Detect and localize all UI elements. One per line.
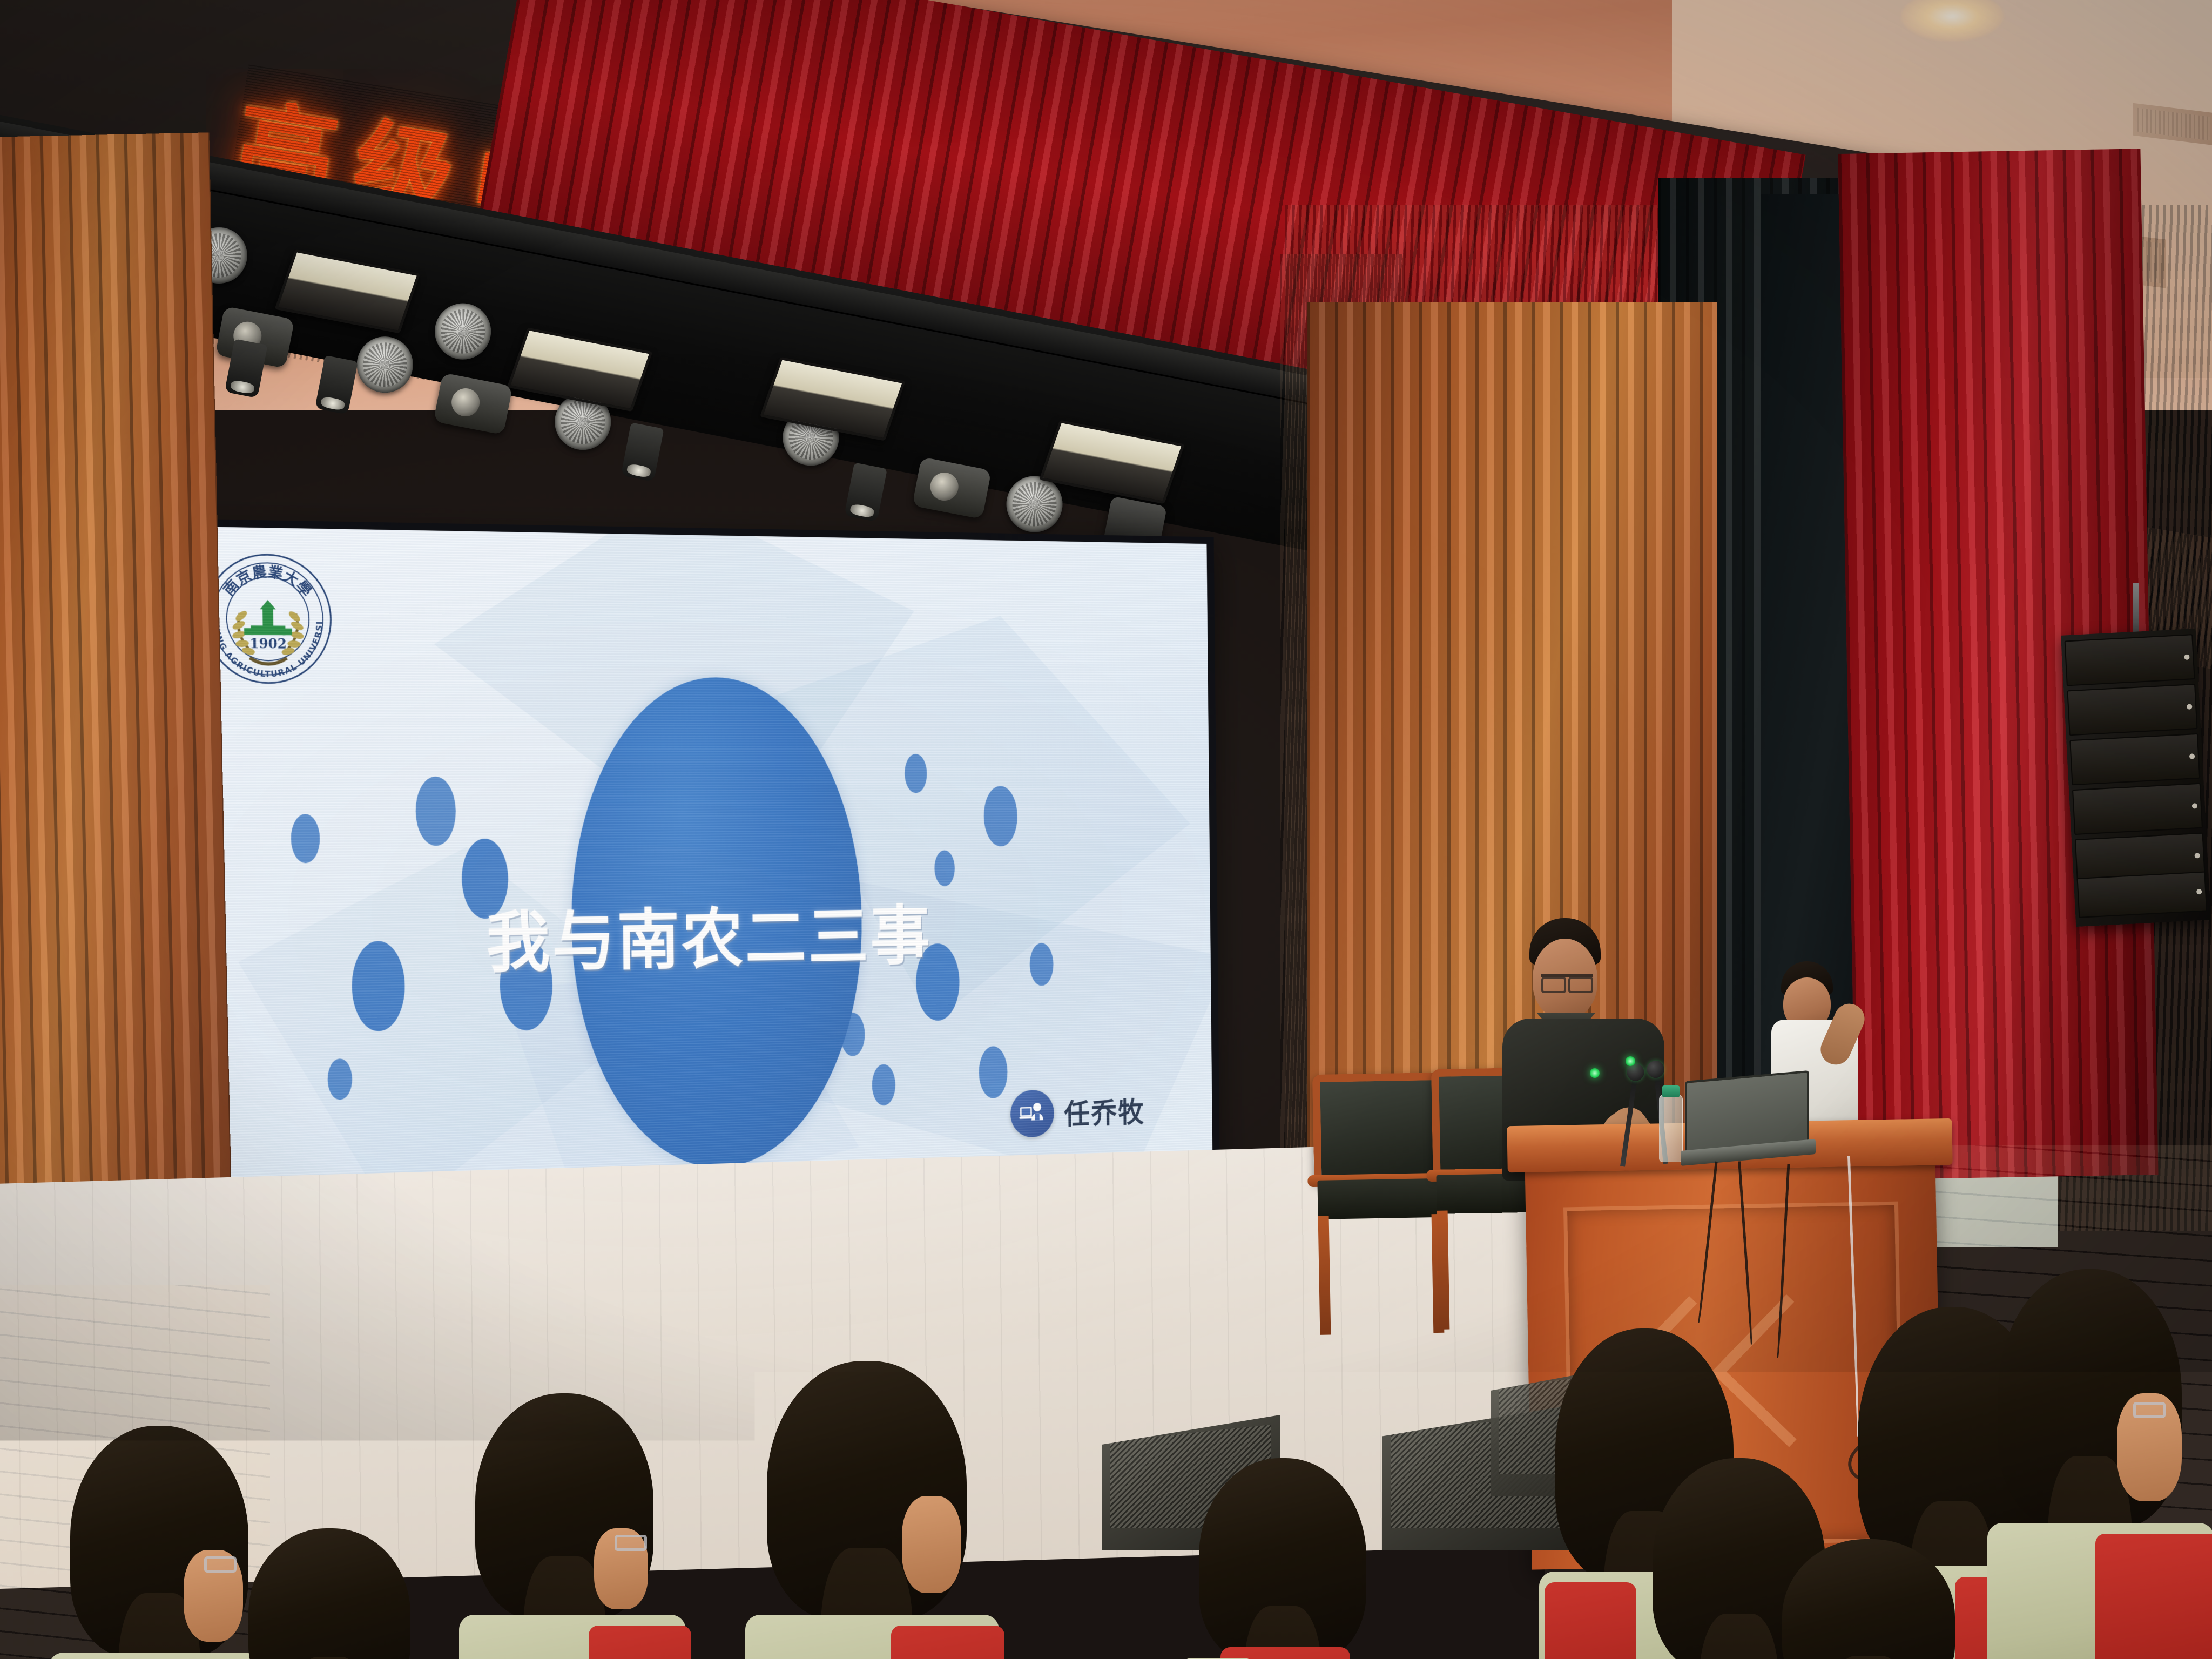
fresnel-light-icon (760, 357, 906, 441)
student-uniform (49, 1653, 281, 1659)
student-glasses-icon (615, 1535, 647, 1551)
chair-leg (1318, 1216, 1331, 1335)
fresnel-light-icon (507, 327, 653, 412)
stage-spotlight-icon (621, 422, 664, 482)
slide-dot (983, 786, 1017, 846)
water-bottle (1659, 1094, 1683, 1162)
student-neck (902, 1496, 961, 1593)
student-glasses-icon (2133, 1402, 2166, 1418)
fresnel-light-icon (1039, 420, 1185, 504)
slide-dot (415, 777, 456, 846)
chair-back (1312, 1073, 1444, 1183)
presenter-glasses-icon (1541, 974, 1593, 985)
slide-dot (934, 850, 955, 886)
speaker-module (2067, 684, 2197, 736)
chair-leg (1437, 1211, 1450, 1330)
orange-curtain-fabric-left (0, 132, 233, 1298)
speaker-module (2069, 733, 2200, 785)
auditorium-photo: 高级中学和南京农业大学共建活动 (0, 0, 2212, 1659)
student-uniform-red-panel (1220, 1647, 1350, 1659)
student-uniform-red-panel (891, 1626, 1004, 1659)
student-uniform-red-panel (2095, 1534, 2212, 1659)
speaker-module (2072, 783, 2203, 835)
speaker-module (2065, 634, 2195, 686)
fresnel-light-icon (274, 249, 420, 334)
presenter-name: 任乔牧 (1064, 1089, 1145, 1132)
moving-head-light-icon (912, 457, 992, 519)
slide-dot (905, 754, 927, 793)
student-hair (1026, 1555, 1188, 1659)
student-hair (1199, 1458, 1366, 1659)
presenter-credit: 任乔牧 (1010, 1086, 1145, 1137)
stage-spotlight-icon (844, 462, 887, 522)
speaker-module (2077, 872, 2208, 918)
slide-dot (327, 1058, 352, 1101)
orange-stage-curtain-left (0, 132, 233, 1298)
line-array-speaker (2061, 629, 2211, 927)
svg-text:南京農業大學: 南京農業大學 (219, 562, 315, 600)
par-can-light-icon (430, 299, 496, 365)
chair-seat (1317, 1178, 1443, 1219)
svg-text:1902: 1902 (249, 635, 287, 651)
projection-screen-frame: 1902 南京農業大學 NANJING AGRICULTURAL UNIVERS… (158, 518, 1220, 1215)
microphone-status-led (1590, 1068, 1600, 1078)
student-uniform-red-panel (589, 1626, 691, 1659)
presenter-icon (1010, 1089, 1054, 1138)
moving-head-light-icon (433, 373, 512, 435)
presentation-slide[interactable]: 1902 南京農業大學 NANJING AGRICULTURAL UNIVERS… (166, 526, 1212, 1201)
student-glasses-icon (204, 1556, 237, 1573)
water-bottle-cap (1662, 1085, 1680, 1097)
student-uniform-red-panel (1545, 1582, 1636, 1659)
microphone-status-led (1626, 1056, 1635, 1066)
slide-dot (291, 814, 320, 863)
